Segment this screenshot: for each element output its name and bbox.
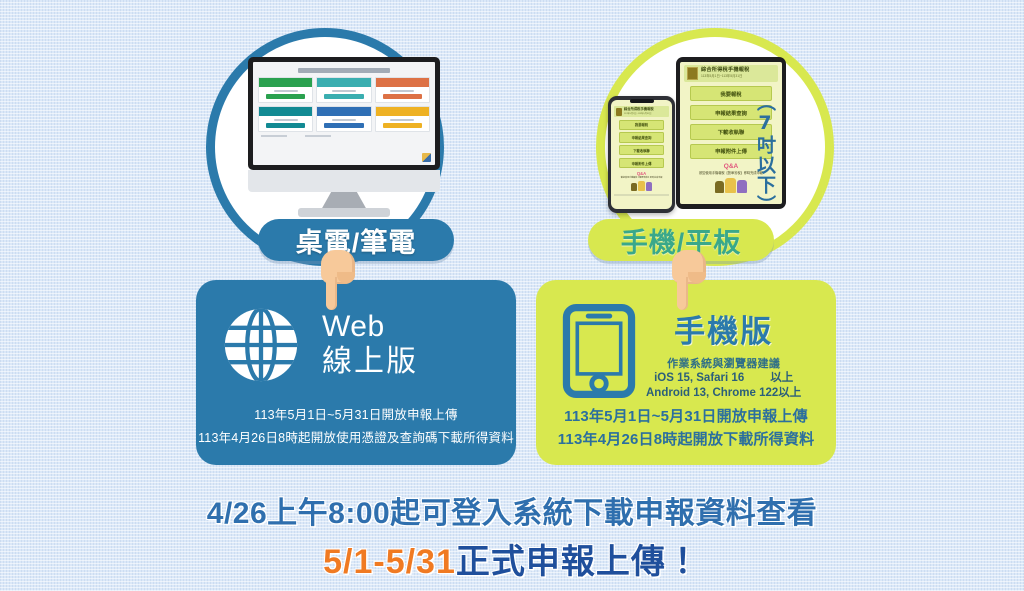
card-mobile-req-heading: 作業系統與瀏覽器建議 (646, 355, 801, 371)
card-web-title-en: Web (322, 310, 418, 343)
monitor-screen-title (298, 68, 391, 73)
pointing-hand-icon-left (315, 250, 361, 312)
card-mobile-note-1: 113年5月1日~5月31日開放申報上傳 (536, 405, 836, 428)
globe-icon (218, 302, 304, 388)
pointing-hand-icon-right (666, 250, 712, 312)
government-seal-icon (616, 108, 622, 116)
banner-line-2: 5/1-5/31正式申報上傳！ (0, 534, 1024, 583)
agency-logo-icon (422, 153, 431, 162)
monitor-footer-links (258, 135, 430, 137)
phone-app-footer (614, 194, 669, 196)
screen-size-note: （7吋以下） (752, 92, 779, 215)
card-web-note-1: 113年5月1日~5月31日開放申報上傳 (196, 404, 516, 428)
phone-app-button: 申報結果查詢 (619, 132, 664, 142)
card-mobile-req-line-2: Android 13, Chrome 122以上 (646, 386, 801, 402)
monitor-service-card (258, 77, 313, 103)
monitor-screen (253, 62, 435, 165)
phone-app-qa-link: Q&A (614, 171, 669, 176)
card-web-notes: 113年5月1日~5月31日開放申報上傳 113年4月26日8時起開放使用憑證及… (196, 404, 516, 452)
card-mobile-note-2: 113年4月26日8時起開放下載所得資料 (536, 428, 836, 451)
card-web-title-zh: 線上版 (322, 343, 418, 381)
banner-line-2-rest: 正式申報上傳！ (456, 543, 701, 581)
phone-app-button: 我要報稅 (619, 120, 664, 130)
monitor-service-card (375, 106, 430, 132)
monitor-service-card (375, 77, 430, 103)
phone-app-illustration (614, 181, 669, 191)
banner-line-1: 4/26上午8:00起可登入系統下載申報資料查看 (0, 488, 1024, 532)
phone-screen: 綜合所得稅手機報稅 113年5月1日~113年5月31日 我要報稅 申報結果查詢… (611, 100, 672, 209)
req-os-ios: iOS 15, Safari 16 (654, 372, 744, 384)
phone-app-header: 綜合所得稅手機報稅 113年5月1日~113年5月31日 (614, 106, 669, 117)
phone-notch (630, 99, 654, 103)
card-mobile-req-line-1: iOS 15, Safari 16以上 (646, 371, 801, 387)
monitor-bezel (248, 57, 440, 170)
monitor-service-grid (258, 77, 430, 132)
phone-illustration: 綜合所得稅手機報稅 113年5月1日~113年5月31日 我要報稅 申報結果查詢… (608, 96, 675, 213)
monitor-service-card (258, 106, 313, 132)
card-web-note-2: 113年4月26日8時起開放使用憑證及查詢碼下載所得資料 (196, 427, 516, 451)
government-seal-icon (687, 67, 698, 80)
phone-app-button: 下載收執聯 (619, 145, 664, 155)
bottom-banner: 4/26上午8:00起可登入系統下載申報資料查看 5/1-5/31正式申報上傳！ (0, 488, 1024, 583)
phone-app-note: 歡迎使用手機報稅【簡單省稅】即時完成申報 (614, 177, 669, 180)
desktop-monitor-illustration (248, 57, 440, 212)
phone-app-button: 申報附件上傳 (619, 158, 664, 168)
card-mobile-notes: 113年5月1日~5月31日開放申報上傳 113年4月26日8時起開放下載所得資… (536, 405, 836, 452)
monitor-stand-base (298, 208, 390, 217)
card-mobile-title: 手機版 (646, 316, 801, 349)
req-os-ios-suffix: 以上 (770, 372, 793, 384)
tablet-app-header: 綜合所得稅手機報稅 113年5月1日~113年5月31日 (684, 65, 778, 82)
phone-app-subtitle: 113年5月1日~113年5月31日 (624, 111, 654, 115)
smartphone-icon (562, 304, 636, 398)
banner-date-range: 5/1-5/31 (323, 543, 456, 581)
monitor-chin (248, 170, 440, 192)
tablet-app-subtitle: 113年5月1日~113年5月31日 (701, 75, 775, 79)
monitor-service-card (316, 77, 371, 103)
monitor-service-card (316, 106, 371, 132)
